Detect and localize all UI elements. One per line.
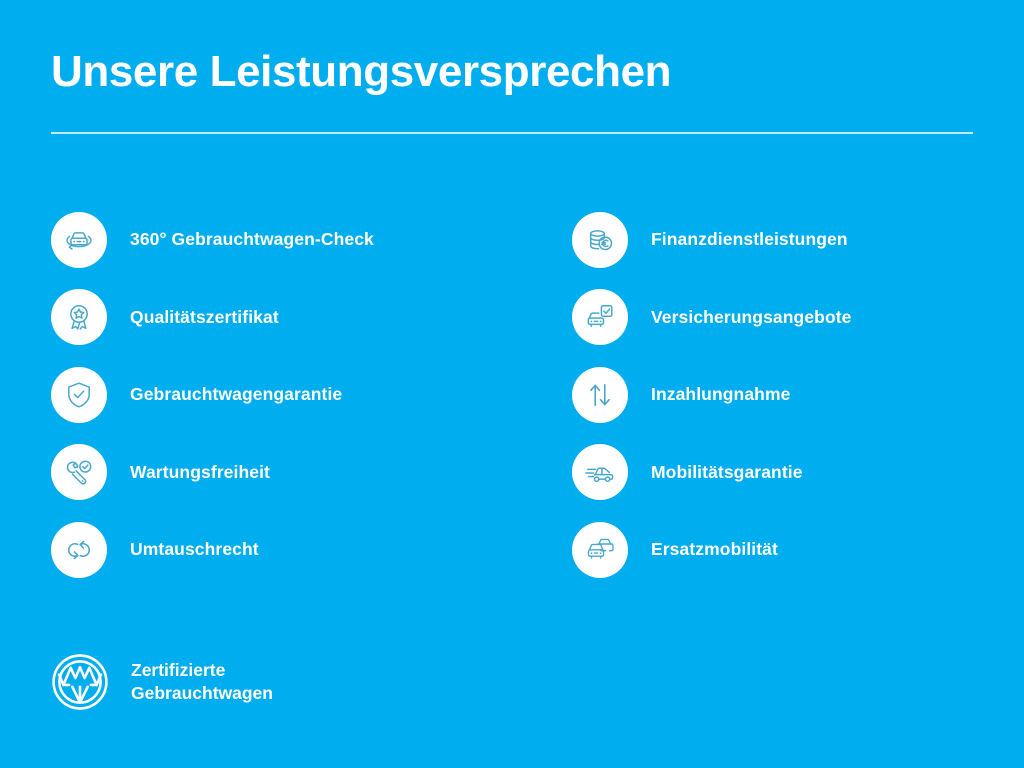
benefit-item-insurance-offers[interactable]: Versicherungsangebote [572,279,973,357]
benefit-label: 360° Gebrauchtwagen-Check [130,229,374,250]
benefit-item-trade-in[interactable]: Inzahlungnahme [572,356,973,434]
benefit-label: Umtauschrecht [130,539,259,560]
footer-line-2: Gebrauchtwagen [131,682,273,705]
benefit-item-360-check[interactable]: 360° Gebrauchtwagen-Check [51,201,572,279]
benefit-item-exchange-right[interactable]: Umtauschrecht [51,511,572,589]
up-down-arrows-icon [572,367,628,423]
footer-text: Zertifizierte Gebrauchtwagen [131,659,273,705]
benefit-label: Mobilitätsgarantie [651,462,803,483]
coins-euro-icon [572,212,628,268]
benefit-label: Versicherungsangebote [651,307,852,328]
header: Unsere Leistungsversprechen [51,48,973,96]
benefit-label: Inzahlungnahme [651,384,790,405]
two-cars-icon [572,522,628,578]
benefit-label: Qualitätszertifikat [130,307,279,328]
wrench-check-icon [51,444,107,500]
benefit-item-mobility-guarantee[interactable]: Mobilitätsgarantie [572,434,973,512]
car-360-check-icon [51,212,107,268]
benefit-label: Finanzdienstleistungen [651,229,848,250]
exchange-arrows-icon [51,522,107,578]
benefit-item-maintenance-free[interactable]: Wartungsfreiheit [51,434,572,512]
car-clipboard-icon [572,289,628,345]
header-divider [51,132,973,134]
shield-check-icon [51,367,107,423]
benefit-label: Wartungsfreiheit [130,462,270,483]
benefit-item-replacement-mobility[interactable]: Ersatzmobilität [572,511,973,589]
benefit-label: Ersatzmobilität [651,539,778,560]
benefit-item-warranty[interactable]: Gebrauchtwagengarantie [51,356,572,434]
page-title: Unsere Leistungsversprechen [51,48,973,96]
promise-board: Unsere Leistungsversprechen 360° Gebrauc… [0,0,1024,768]
award-rosette-icon [51,289,107,345]
footer: Zertifizierte Gebrauchtwagen [51,653,273,711]
benefit-item-quality-certificate[interactable]: Qualitätszertifikat [51,279,572,357]
car-motion-icon [572,444,628,500]
benefit-label: Gebrauchtwagengarantie [130,384,342,405]
benefits-grid: 360° Gebrauchtwagen-Check Finanzdienstle… [51,201,973,589]
footer-line-1: Zertifizierte [131,659,273,682]
benefit-item-financial-services[interactable]: Finanzdienstleistungen [572,201,973,279]
volkswagen-logo [51,653,109,711]
